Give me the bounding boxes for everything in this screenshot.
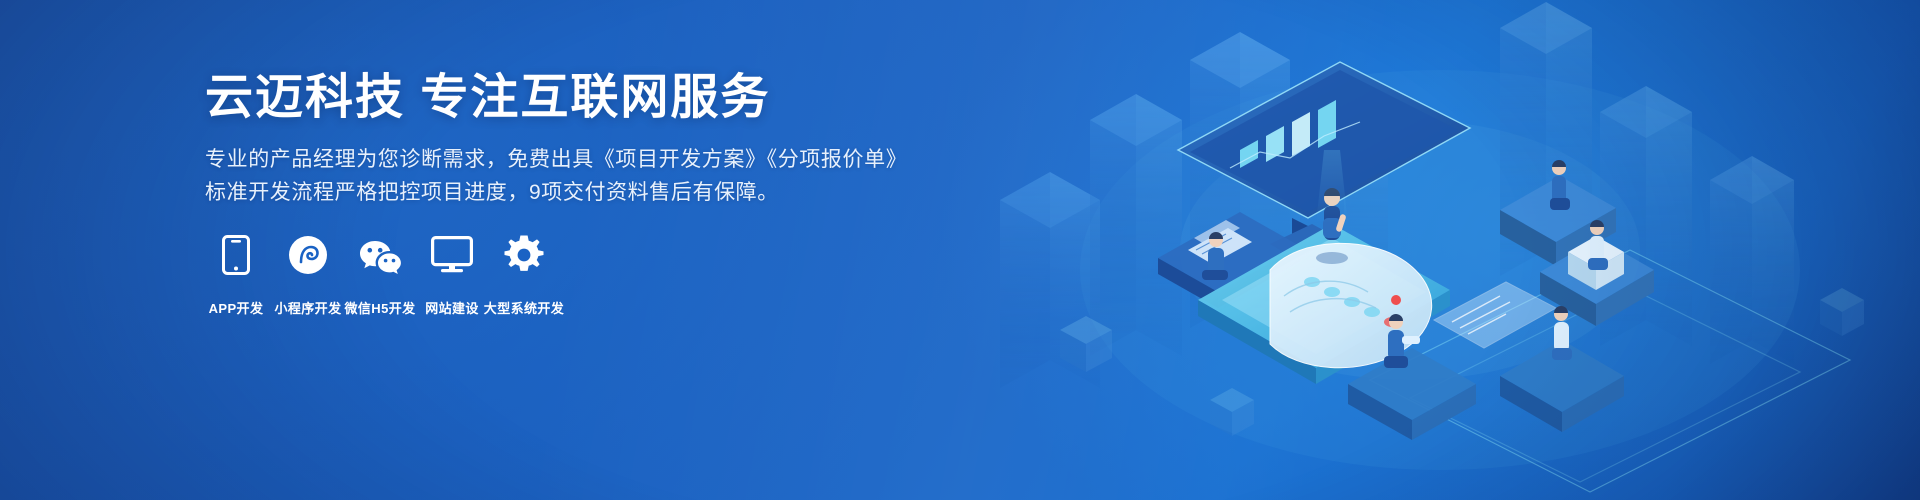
service-label: 大型系统开发 <box>484 298 564 317</box>
page-title: 云迈科技 专注互联网服务 <box>205 72 945 125</box>
illustration-isometric-scene <box>940 0 1920 500</box>
monitor-icon <box>431 232 473 278</box>
wechat-icon <box>358 232 402 278</box>
service-list: APP开发 小程序开发 微信 <box>200 232 560 317</box>
service-item-mini-program[interactable]: 小程序开发 <box>272 232 344 317</box>
service-label: 微信H5开发 <box>344 298 415 317</box>
service-item-app[interactable]: APP开发 <box>200 232 272 317</box>
service-item-website[interactable]: 网站建设 <box>416 232 488 317</box>
figure-bottom-left <box>1384 314 1420 368</box>
figure-center <box>1316 188 1348 264</box>
mobile-phone-icon <box>222 232 250 278</box>
service-item-wechat-h5[interactable]: 微信H5开发 <box>344 232 416 317</box>
figure-right <box>1588 220 1608 270</box>
figure-left <box>1202 232 1228 280</box>
figure-bottom-right <box>1552 306 1572 360</box>
hero-content: 云迈科技 专注互联网服务 专业的产品经理为您诊断需求，免费出具《项目开发方案》《… <box>205 72 945 209</box>
mini-program-icon <box>288 232 328 278</box>
service-label: APP开发 <box>209 298 264 317</box>
subtitle-line-1: 专业的产品经理为您诊断需求，免费出具《项目开发方案》《分项报价单》 <box>205 143 945 176</box>
service-label: 小程序开发 <box>274 298 341 317</box>
service-item-large-system[interactable]: 大型系统开发 <box>488 232 560 317</box>
service-label: 网站建设 <box>425 298 479 317</box>
hero-banner: 云迈科技 专注互联网服务 专业的产品经理为您诊断需求，免费出具《项目开发方案》《… <box>0 0 1920 500</box>
gear-icon <box>503 232 545 278</box>
subtitle-line-2: 标准开发流程严格把控项目进度，9项交付资料售后有保障。 <box>205 176 945 209</box>
figure-upper-right <box>1550 160 1570 210</box>
